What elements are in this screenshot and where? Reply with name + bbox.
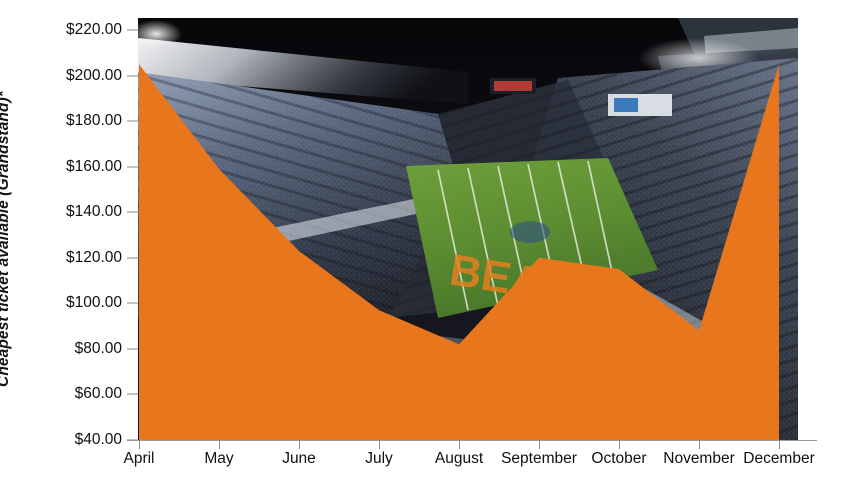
y-axis-tick-label: $220.00: [66, 21, 122, 39]
x-axis-tick-mark: [139, 440, 140, 449]
series-area-svg: BEARS: [138, 18, 798, 440]
y-axis-tick-mark: [127, 30, 138, 31]
area-chart: Cheapest ticket available (Grandstand)* …: [0, 0, 842, 478]
y-axis-tick-mark: [127, 394, 138, 395]
x-axis-tick-label: September: [501, 450, 577, 468]
y-axis-tick-label: $40.00: [75, 431, 122, 449]
x-axis-tick-label: August: [435, 450, 483, 468]
y-axis-tick-mark: [127, 348, 138, 349]
y-axis-tick-mark: [127, 75, 138, 76]
x-axis-tick-mark: [219, 440, 220, 449]
x-axis-tick-labels: AprilMayJuneJulyAugustSeptemberOctoberNo…: [0, 450, 842, 478]
x-axis-tick-mark: [779, 440, 780, 449]
y-axis-tick-label: $160.00: [66, 158, 122, 176]
x-axis-tick-label: December: [743, 450, 815, 468]
y-axis-tick-label: $80.00: [75, 340, 122, 358]
y-axis-tick-label: $140.00: [66, 203, 122, 221]
x-axis-tick-mark: [699, 440, 700, 449]
y-axis-tick-label: $120.00: [66, 249, 122, 267]
plot-area: BEARS: [138, 18, 798, 440]
x-axis-tick-label: November: [663, 450, 735, 468]
x-axis-tick-label: May: [204, 450, 233, 468]
x-axis-tick-label: June: [282, 450, 316, 468]
x-axis-line: [127, 440, 817, 441]
y-axis-tick-label: $180.00: [66, 112, 122, 130]
y-axis-tick-mark: [127, 303, 138, 304]
x-axis-tick-label: July: [365, 450, 393, 468]
x-axis-tick-label: April: [123, 450, 154, 468]
x-axis-tick-label: October: [591, 450, 646, 468]
y-axis-tick-mark: [127, 166, 138, 167]
y-axis-tick-label: $100.00: [66, 294, 122, 312]
y-axis-tick-mark: [127, 257, 138, 258]
y-axis-tick-mark: [127, 212, 138, 213]
x-axis-tick-mark: [619, 440, 620, 449]
y-axis-tick-label: $200.00: [66, 67, 122, 85]
x-axis-tick-mark: [459, 440, 460, 449]
x-axis-tick-mark: [299, 440, 300, 449]
y-axis-tick-mark: [127, 121, 138, 122]
x-axis-tick-mark: [539, 440, 540, 449]
x-axis-tick-mark: [379, 440, 380, 449]
y-axis-tick-labels: $220.00$200.00$180.00$160.00$140.00$120.…: [34, 0, 130, 478]
y-axis-tick-label: $60.00: [75, 385, 122, 403]
y-axis-title: Cheapest ticket available (Grandstand)*: [0, 0, 34, 478]
